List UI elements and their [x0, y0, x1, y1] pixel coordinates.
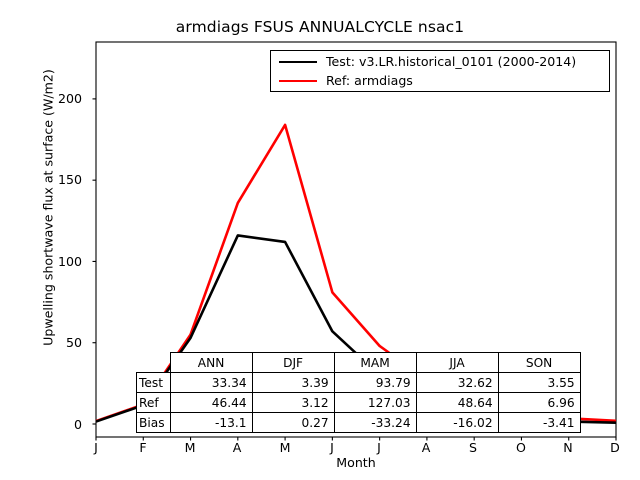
legend: Test: v3.LR.historical_0101 (2000-2014) … — [270, 50, 610, 92]
statistics-table: ANN DJF MAM JJA SON Test 33.34 3.39 93.7… — [136, 352, 581, 433]
table-col-header-jja: JJA — [416, 353, 498, 373]
table-cell-ref-son: 6.96 — [498, 393, 580, 413]
table-row-header-test: Test — [137, 373, 171, 393]
table-cell-test-djf: 3.39 — [252, 373, 334, 393]
table-row-header-bias: Bias — [137, 413, 171, 433]
legend-swatch-ref — [279, 80, 317, 82]
table-row: Test 33.34 3.39 93.79 32.62 3.55 — [137, 373, 581, 393]
legend-entry-ref: Ref: armdiags — [279, 71, 413, 90]
table-col-header-djf: DJF — [252, 353, 334, 373]
table-row-header-ref: Ref — [137, 393, 171, 413]
legend-label-ref: Ref: armdiags — [326, 73, 413, 88]
table-header-row: ANN DJF MAM JJA SON — [137, 353, 581, 373]
table-cell-bias-ann: -13.1 — [170, 413, 252, 433]
table-col-header-mam: MAM — [334, 353, 416, 373]
legend-swatch-test — [279, 61, 317, 63]
figure-canvas: armdiags FSUS ANNUALCYCLE nsac1 Upwellin… — [0, 0, 640, 480]
table-cell-test-jja: 32.62 — [416, 373, 498, 393]
table-corner-cell — [137, 353, 171, 373]
table-cell-ref-djf: 3.12 — [252, 393, 334, 413]
table-cell-bias-jja: -16.02 — [416, 413, 498, 433]
table-cell-test-son: 3.55 — [498, 373, 580, 393]
table-cell-ref-mam: 127.03 — [334, 393, 416, 413]
table-row: Ref 46.44 3.12 127.03 48.64 6.96 — [137, 393, 581, 413]
table-row: Bias -13.1 0.27 -33.24 -16.02 -3.41 — [137, 413, 581, 433]
table-cell-ref-jja: 48.64 — [416, 393, 498, 413]
table-cell-test-mam: 93.79 — [334, 373, 416, 393]
table-cell-test-ann: 33.34 — [170, 373, 252, 393]
table-cell-ref-ann: 46.44 — [170, 393, 252, 413]
table-cell-bias-djf: 0.27 — [252, 413, 334, 433]
table-col-header-son: SON — [498, 353, 580, 373]
table-cell-bias-son: -3.41 — [498, 413, 580, 433]
legend-label-test: Test: v3.LR.historical_0101 (2000-2014) — [326, 54, 576, 69]
legend-entry-test: Test: v3.LR.historical_0101 (2000-2014) — [279, 52, 576, 71]
table-cell-bias-mam: -33.24 — [334, 413, 416, 433]
table-col-header-ann: ANN — [170, 353, 252, 373]
